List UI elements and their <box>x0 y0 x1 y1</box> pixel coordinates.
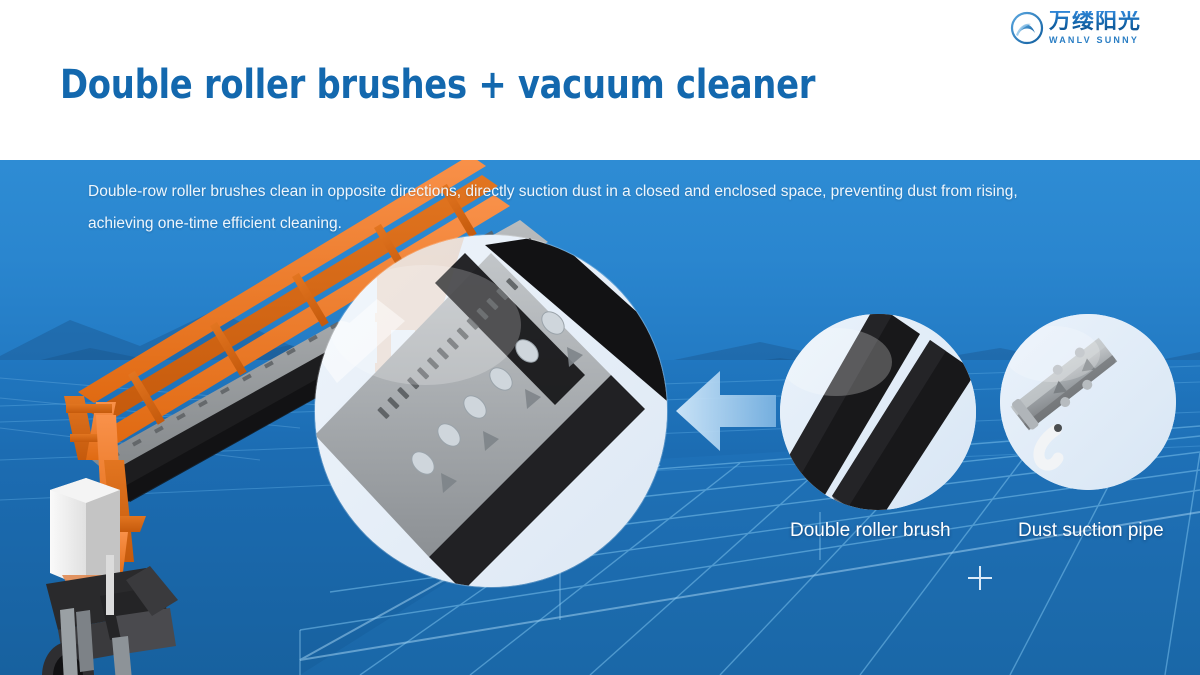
plus-symbol-icon <box>968 566 992 590</box>
page-title: Double roller brushes + vacuum cleaner <box>60 62 815 108</box>
main-illustration: Double-row roller brushes clean in oppos… <box>0 160 1200 675</box>
logo-english-name: WANLV SUNNY <box>1049 36 1141 45</box>
caption-dust-suction-pipe: Dust suction pipe <box>1018 520 1164 542</box>
company-logo: 万缕阳光 WANLV SUNNY <box>1010 6 1186 50</box>
left-arrow-icon <box>672 365 780 457</box>
dust-suction-pipe-circle <box>1000 314 1176 490</box>
circular-swoosh-logo-icon <box>1010 11 1044 45</box>
caption-double-roller-brush: Double roller brush <box>790 520 951 542</box>
double-roller-brush-circle <box>780 314 976 510</box>
logo-chinese-name: 万缕阳光 <box>1049 11 1141 33</box>
logo-text-block: 万缕阳光 WANLV SUNNY <box>1049 11 1141 45</box>
slide: 万缕阳光 WANLV SUNNY Double roller brushes +… <box>0 0 1200 675</box>
slide-header: 万缕阳光 WANLV SUNNY Double roller brushes +… <box>0 0 1200 160</box>
right-callout-group <box>580 160 1200 675</box>
